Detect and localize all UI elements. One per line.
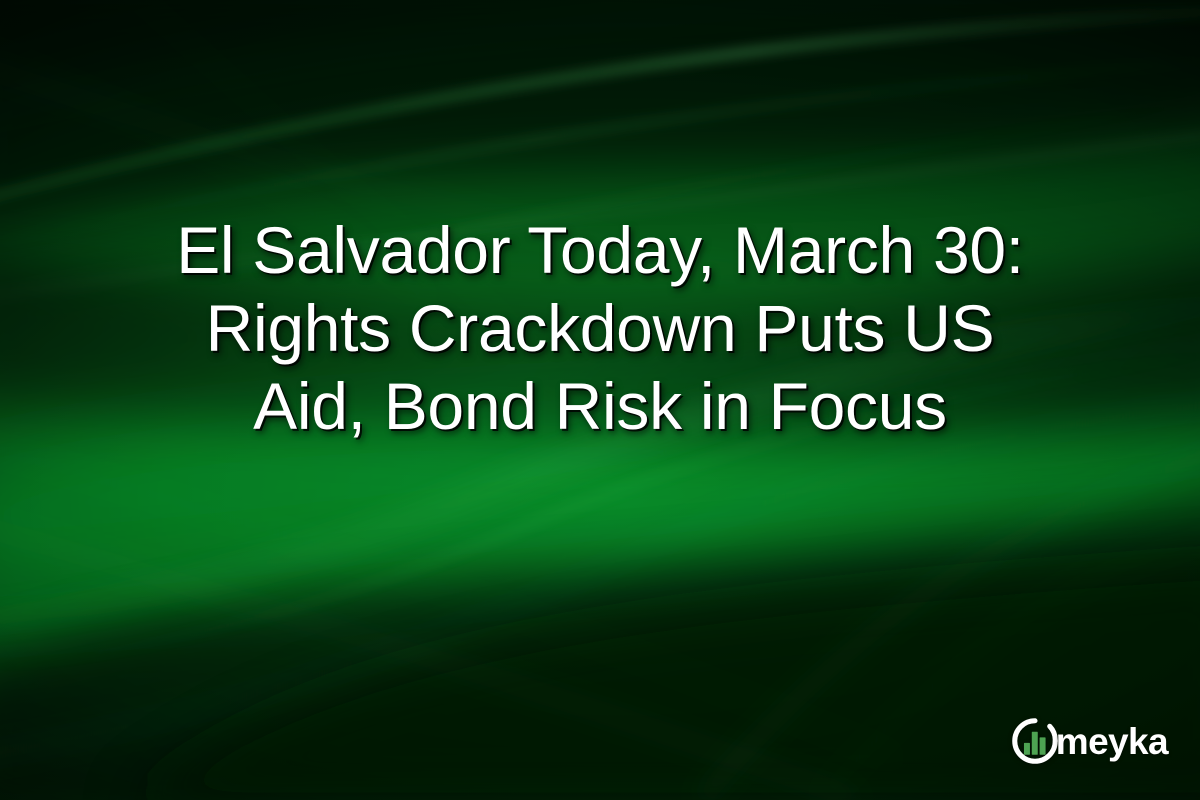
page-title: El Salvador Today, March 30: Rights Crac…	[0, 212, 1200, 446]
social-share-card: El Salvador Today, March 30: Rights Crac…	[0, 0, 1200, 800]
meyka-wordmark: meyka	[1056, 723, 1168, 760]
meyka-circle-bar-chart-icon	[1012, 718, 1058, 764]
meyka-logo[interactable]: meyka	[1012, 718, 1174, 764]
